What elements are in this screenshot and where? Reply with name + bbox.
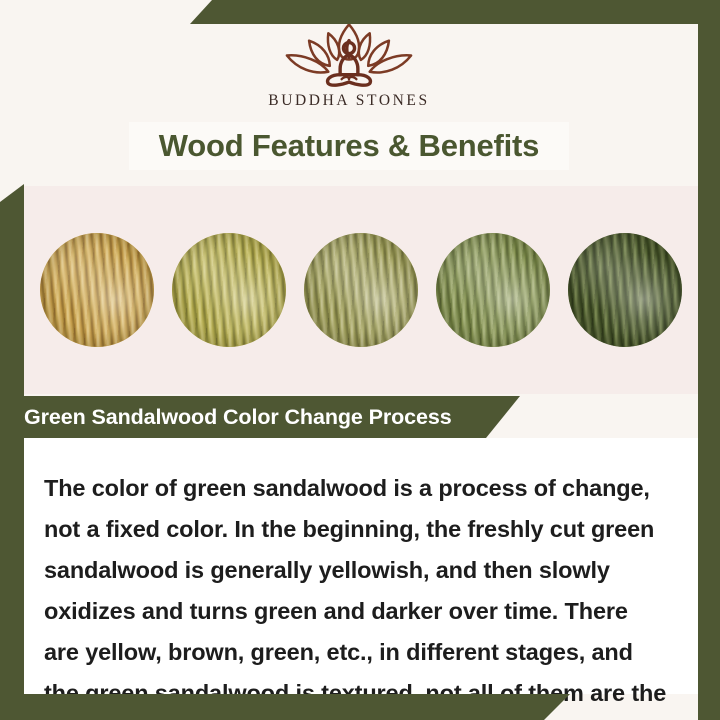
bead-stage-3 (304, 233, 418, 347)
brand-name: BUDDHA STONES (268, 92, 429, 110)
brand-logo: BUDDHA STONES (268, 20, 429, 110)
bead-stage-4 (436, 233, 550, 347)
frame-band-top (190, 0, 720, 24)
section-banner-label: Green Sandalwood Color Change Process (0, 405, 452, 430)
bead-sheen (436, 233, 550, 347)
title-plate: Wood Features & Benefits (129, 122, 569, 170)
frame-band-right (698, 0, 720, 720)
bead-sheen (304, 233, 418, 347)
bead-stage-2 (172, 233, 286, 347)
section-banner: Green Sandalwood Color Change Process (0, 396, 520, 438)
poster-root: BUDDHA STONES Wood Features & Benefits (0, 0, 720, 720)
body-paragraph: The color of green sandalwood is a proce… (24, 438, 698, 720)
bead-stage-1 (40, 233, 154, 347)
frame-band-bottom (0, 694, 570, 720)
bead-sheen (172, 233, 286, 347)
bead-sheen (40, 233, 154, 347)
lotus-meditation-icon (274, 20, 424, 88)
frame-band-left (0, 184, 24, 720)
bead-sheen (568, 233, 682, 347)
body-card: The color of green sandalwood is a proce… (24, 438, 698, 694)
bead-stage-5 (568, 233, 682, 347)
header: BUDDHA STONES Wood Features & Benefits (0, 0, 698, 186)
page-title: Wood Features & Benefits (159, 128, 539, 164)
bead-gallery (24, 186, 698, 394)
